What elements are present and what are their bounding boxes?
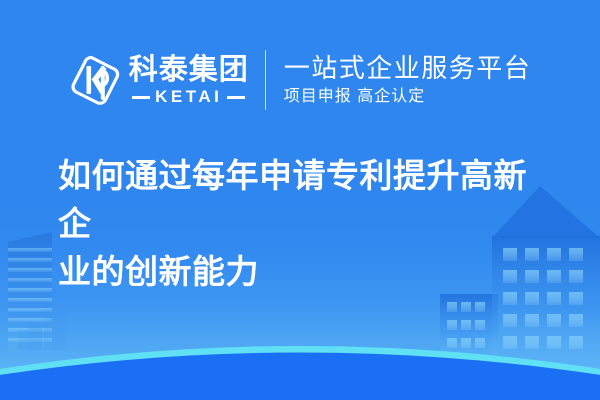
company-name-en-row: KETAI bbox=[129, 88, 249, 106]
header-divider bbox=[265, 50, 266, 110]
brand-lockup: 科泰集团 KETAI bbox=[69, 51, 249, 109]
tagline-main-text: 一站式企业服务平台 bbox=[284, 53, 532, 83]
brand-wordmark: 科泰集团 KETAI bbox=[129, 51, 249, 109]
ketai-kp-diamond-logo-icon bbox=[69, 52, 121, 108]
building-left-tower bbox=[6, 232, 54, 352]
wordmark-dash-right bbox=[227, 96, 245, 99]
article-title-line-2: 业的创新能力 bbox=[58, 248, 558, 296]
tagline-sub-text: 项目申报 高企认定 bbox=[284, 86, 532, 108]
company-name-cn: 科泰集团 bbox=[129, 54, 249, 86]
arc-highlight-line bbox=[0, 346, 600, 400]
header-tagline: 一站式企业服务平台 项目申报 高企认定 bbox=[284, 49, 532, 111]
wordmark-dash-left bbox=[132, 96, 150, 99]
arc-solid-fill bbox=[0, 353, 600, 400]
article-title-line-1: 如何通过每年申请专利提升高新企 bbox=[58, 152, 558, 248]
company-name-en: KETAI bbox=[150, 88, 227, 106]
promo-banner: 科泰集团 KETAI 一站式企业服务平台 项目申报 高企认定 如何通过每年申请专… bbox=[0, 0, 600, 400]
building-right-block bbox=[440, 294, 498, 360]
banner-title-block: 如何通过每年申请专利提升高新企 业的创新能力 bbox=[58, 152, 558, 296]
building-left-low-cluster bbox=[18, 310, 66, 350]
banner-header: 科泰集团 KETAI 一站式企业服务平台 项目申报 高企认定 bbox=[0, 44, 600, 116]
bottom-arc bbox=[0, 346, 600, 400]
